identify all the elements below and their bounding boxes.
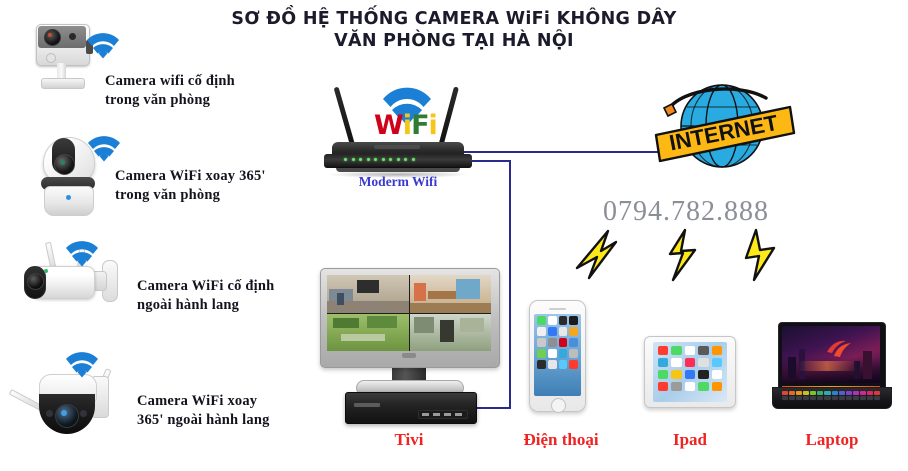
contact-phone-number: 0794.782.888 bbox=[586, 196, 786, 228]
camera-lens bbox=[54, 154, 75, 175]
camera-lens bbox=[27, 273, 44, 290]
device-label-laptop: Laptop bbox=[780, 430, 884, 450]
wifi-icon bbox=[62, 346, 102, 378]
cctv-quadrant-garden bbox=[327, 314, 409, 352]
phone-speaker bbox=[549, 308, 566, 310]
wifi-icon bbox=[62, 235, 102, 267]
device-label-ipad: Ipad bbox=[640, 430, 740, 450]
lightning-bolt-icon bbox=[743, 228, 777, 282]
ipad-device[interactable] bbox=[644, 336, 736, 408]
wifi-word-letter-i2: i bbox=[429, 110, 437, 141]
camera-lens bbox=[55, 404, 79, 428]
wifi-word-letter-i1: i bbox=[403, 110, 411, 141]
router-label: Moderm Wifi bbox=[318, 174, 478, 190]
internet-globe[interactable]: INTERNET bbox=[642, 80, 802, 172]
device-label-tivi: Tivi bbox=[359, 430, 459, 450]
camera-pir-sensor bbox=[46, 53, 56, 63]
wifi-icon bbox=[84, 130, 124, 162]
title-line-2: VĂN PHÒNG TẠI HÀ NỘI bbox=[0, 30, 908, 52]
camera-label-line-1: Camera WiFi cố định bbox=[137, 277, 274, 296]
cctv-quadrant-study bbox=[410, 275, 492, 313]
laptop-device[interactable] bbox=[772, 322, 890, 414]
camera-base bbox=[44, 186, 94, 216]
camera-label-3: Camera WiFi cố định ngoài hành lang bbox=[137, 277, 274, 315]
laptop-screen bbox=[782, 326, 880, 383]
camera-label-line-1: Camera wifi cố định bbox=[105, 72, 235, 91]
ipad-app-grid bbox=[658, 346, 722, 398]
laptop-keyboard[interactable] bbox=[782, 391, 880, 401]
camera-label-line-2: 365' ngoài hành lang bbox=[137, 411, 270, 430]
camera-label-2: Camera WiFi xoay 365' trong văn phòng bbox=[115, 167, 266, 205]
dvr-front-panel bbox=[418, 410, 468, 419]
rog-logo-icon bbox=[826, 340, 852, 358]
router-antenna-left bbox=[334, 87, 356, 148]
camera-label-line-1: Camera WiFi xoay 365' bbox=[115, 167, 266, 186]
phone-home-button[interactable] bbox=[551, 398, 566, 413]
phone-screen bbox=[534, 314, 581, 396]
wifi-wordmark: WiFi bbox=[374, 112, 437, 139]
camera-ir-led bbox=[46, 410, 53, 417]
camera-ir-sensor bbox=[69, 33, 76, 40]
camera-label-line-2: trong văn phòng bbox=[105, 91, 235, 110]
lightning-bolt-icon bbox=[665, 228, 699, 282]
camera-ir-led bbox=[80, 410, 87, 417]
link-router-to-internet bbox=[455, 151, 665, 153]
camera-lens bbox=[44, 29, 61, 46]
phone-app-grid bbox=[537, 316, 578, 394]
title-line-1: SƠ ĐỒ HỆ THỐNG CAMERA WiFi KHÔNG DÂY bbox=[231, 9, 676, 29]
router-front-panel bbox=[324, 154, 472, 168]
camera-label-line-2: trong văn phòng bbox=[115, 186, 266, 205]
router-brand-mark bbox=[374, 145, 420, 149]
camera-label-line-2: ngoài hành lang bbox=[137, 296, 274, 315]
dien-thoai-device[interactable] bbox=[529, 300, 586, 412]
wifi-word-letter-w: W bbox=[374, 110, 403, 141]
device-label-dien-thoai: Điện thoại bbox=[502, 430, 620, 450]
camera-base bbox=[41, 78, 85, 89]
diagram-canvas: SƠ ĐỒ HỆ THỐNG CAMERA WiFi KHÔNG DÂY VĂN… bbox=[0, 0, 908, 471]
lightning-bolt-icon bbox=[575, 228, 621, 280]
ipad-screen bbox=[653, 342, 727, 402]
wifi-word-letter-f: F bbox=[411, 110, 428, 141]
camera-status-led bbox=[66, 195, 71, 200]
camera-label-line-1: Camera WiFi xoay bbox=[137, 392, 270, 411]
router-status-leds bbox=[344, 158, 415, 161]
tivi-monitor[interactable] bbox=[320, 268, 498, 390]
router-base bbox=[336, 167, 460, 172]
dvr-brand-mark bbox=[354, 403, 380, 407]
cctv-quadrant-yard bbox=[410, 314, 492, 352]
dvr-recorder[interactable] bbox=[345, 392, 477, 424]
link-vertical-to-dvr bbox=[509, 160, 511, 408]
camera-label-4: Camera WiFi xoay 365' ngoài hành lang bbox=[137, 392, 270, 430]
page-title: SƠ ĐỒ HỆ THỐNG CAMERA WiFi KHÔNG DÂY VĂN… bbox=[0, 8, 908, 52]
camera-status-led bbox=[44, 269, 48, 273]
wifi-icon bbox=[83, 27, 123, 59]
cctv-quad-view bbox=[327, 275, 491, 351]
monitor-brand-logo bbox=[402, 353, 416, 358]
cctv-quadrant-living-room bbox=[327, 275, 409, 313]
router-antenna-right bbox=[438, 86, 459, 147]
camera-label-1: Camera wifi cố định trong văn phòng bbox=[105, 72, 235, 110]
